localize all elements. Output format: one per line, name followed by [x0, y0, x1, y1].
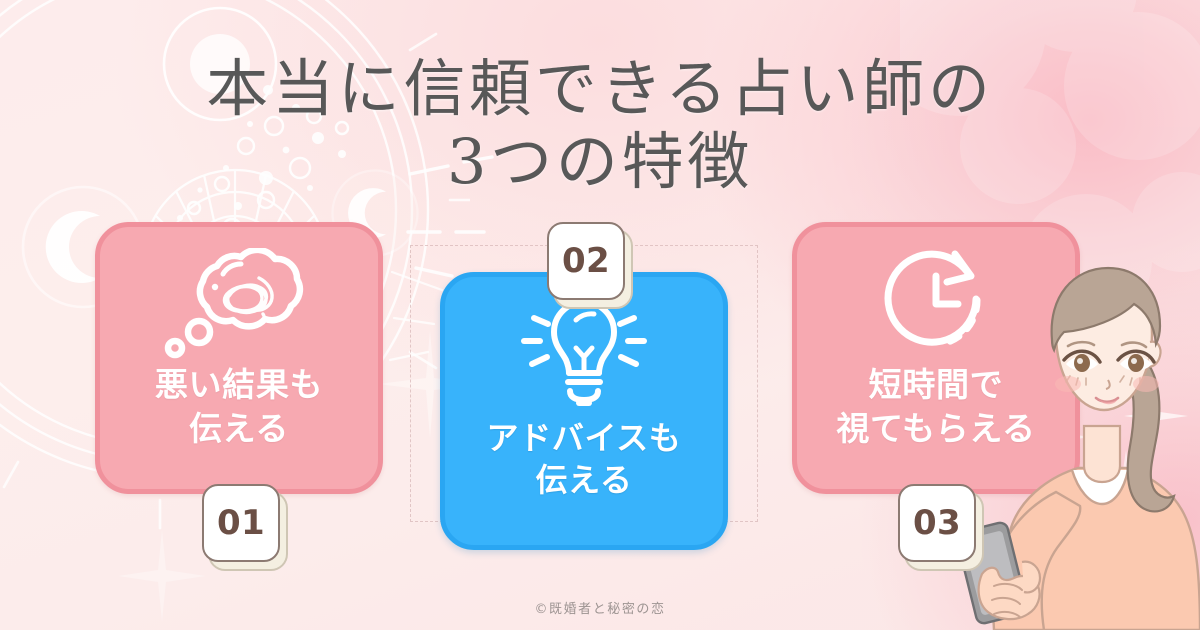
thought-bubble-scribble-icon — [163, 245, 315, 363]
card-label-line-2: 伝える — [155, 407, 323, 451]
step-badge-03: 03 — [898, 484, 976, 562]
infographic-canvas: 本当に信頼できる占い師の 3つの特徴 — [0, 0, 1200, 630]
card-label-line-1: アドバイスも — [487, 417, 682, 459]
lightbulb-idea-icon — [510, 289, 658, 417]
feature-card-02-label: アドバイスも 伝える — [487, 417, 682, 501]
footer-credit: ©既婚者と秘密の恋 — [0, 598, 1200, 617]
step-badge-01: 01 — [202, 484, 280, 562]
page-title: 本当に信頼できる占い師の 3つの特徴 — [0, 52, 1200, 198]
page-title-line-2: 3つの特徴 — [0, 125, 1200, 198]
page-title-line-1: 本当に信頼できる占い師の — [206, 52, 993, 125]
card-label-line-2: 伝える — [487, 459, 682, 501]
step-badge-02: 02 — [547, 222, 625, 300]
feature-card-01[interactable]: 悪い結果も 伝える — [95, 222, 383, 494]
card-label-line-1: 悪い結果も — [155, 363, 323, 407]
feature-card-02[interactable]: アドバイスも 伝える — [440, 272, 728, 550]
feature-card-01-label: 悪い結果も 伝える — [155, 363, 323, 450]
woman-with-smartphone-illustration — [960, 230, 1200, 630]
